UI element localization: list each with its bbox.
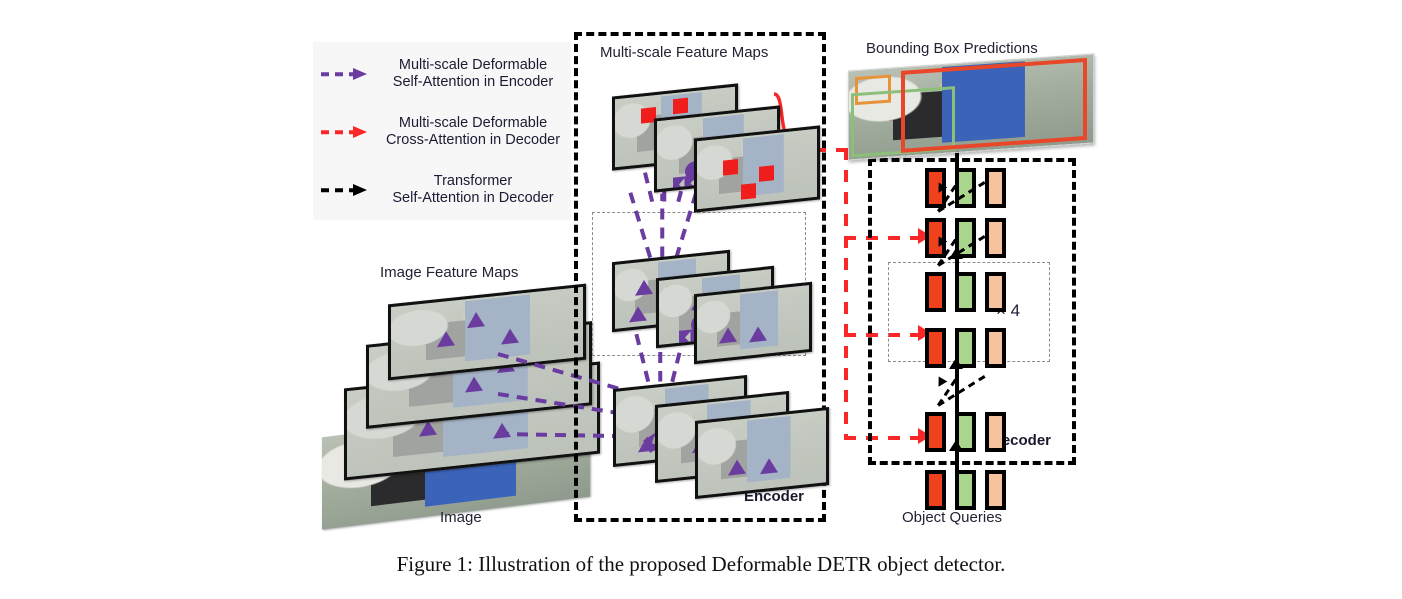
object-queries-label: Object Queries (902, 509, 1002, 526)
legend-label-decoder-cross-attention: Multi-scale DeformableCross-Attention in… (375, 115, 571, 149)
decoder-layer-1-input-row (925, 412, 1006, 452)
multiscale-feature-maps-title: Multi-scale Feature Maps (600, 44, 768, 61)
legend-item-decoder-cross-attention: Multi-scale DeformableCross-Attention in… (313, 106, 571, 158)
purple-dashed-arrow-icon (313, 64, 375, 84)
encoder-internal-ray-5 (660, 194, 664, 258)
query-block-output (985, 470, 1006, 510)
query-block-content (925, 412, 946, 452)
decoder-layer-1-output-row (925, 328, 1006, 368)
decoder-flow-line-0 (955, 450, 959, 472)
query-block-position (955, 272, 976, 312)
query-block-output (985, 168, 1006, 208)
red-dashed-arrow-icon (313, 122, 375, 142)
legend-item-decoder-self-attention: TransformerSelf-Attention in Decoder (313, 164, 571, 216)
query-block-content (925, 328, 946, 368)
legend-panel: Multi-scale DeformableSelf-Attention in … (313, 42, 571, 220)
query-block-content (925, 470, 946, 510)
query-block-output (985, 218, 1006, 258)
legend-item-encoder-self-attention: Multi-scale DeformableSelf-Attention in … (313, 48, 571, 100)
object-queries-row (925, 470, 1006, 510)
multiscale-feature-map-level-3 (694, 125, 820, 212)
query-block-output (985, 412, 1006, 452)
decoder-layer-2-input-row (925, 272, 1006, 312)
encoder-bottom-map-level-3 (695, 407, 829, 499)
bounding-box-predictions-image (848, 53, 1094, 160)
query-block-output (985, 328, 1006, 368)
query-block-position (955, 470, 976, 510)
encoder-middle-map-level-3 (694, 282, 812, 364)
query-block-content (925, 272, 946, 312)
figure-caption: Figure 1: Illustration of the proposed D… (0, 552, 1402, 577)
player-right-box (901, 58, 1087, 153)
input-image-label: Image (440, 509, 482, 526)
decoder-flow-arrow-0 (949, 440, 963, 451)
decoder-flow-arrow-1 (949, 358, 963, 369)
cross-attention-trunk-vertical (844, 148, 848, 440)
decoder-flow-line-2 (955, 258, 959, 274)
black-dashed-arrow-icon (313, 180, 375, 200)
bounding-box-predictions-title: Bounding Box Predictions (866, 40, 1038, 57)
query-block-output (985, 272, 1006, 312)
legend-label-encoder-self-attention: Multi-scale DeformableSelf-Attention in … (375, 57, 571, 91)
legend-label-decoder-self-attention: TransformerSelf-Attention in Decoder (375, 173, 571, 207)
image-feature-maps-title: Image Feature Maps (380, 264, 518, 281)
